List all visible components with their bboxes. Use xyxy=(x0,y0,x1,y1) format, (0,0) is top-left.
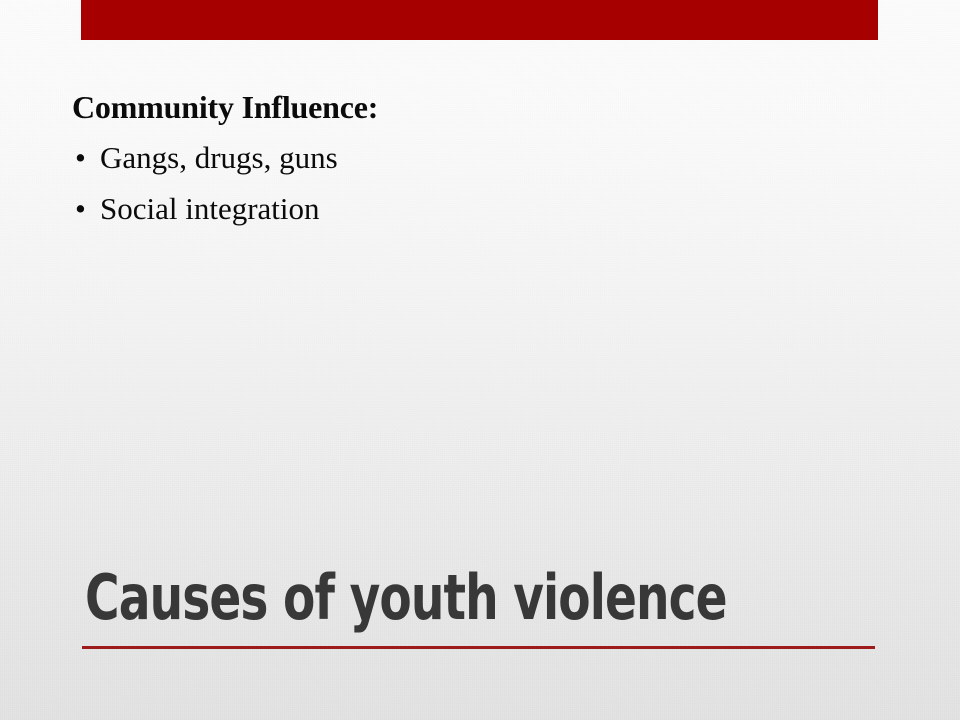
bullet-point-icon: • xyxy=(75,132,86,183)
bullet-list: • Gangs, drugs, guns • Social integratio… xyxy=(70,132,890,234)
content-heading: Community Influence: xyxy=(70,86,890,128)
list-item-label: Gangs, drugs, guns xyxy=(100,140,338,175)
top-red-banner xyxy=(81,0,878,40)
list-item: • Social integration xyxy=(70,183,890,234)
presentation-slide: Community Influence: • Gangs, drugs, gun… xyxy=(0,0,960,720)
list-item-label: Social integration xyxy=(100,191,320,226)
page-title: Causes of youth violence xyxy=(82,560,686,636)
title-underline-rule xyxy=(82,646,875,649)
list-item: • Gangs, drugs, guns xyxy=(70,132,890,183)
slide-title-block: Causes of youth violence xyxy=(82,560,877,636)
bullet-point-icon: • xyxy=(75,183,86,234)
slide-content-body: Community Influence: • Gangs, drugs, gun… xyxy=(70,86,890,234)
